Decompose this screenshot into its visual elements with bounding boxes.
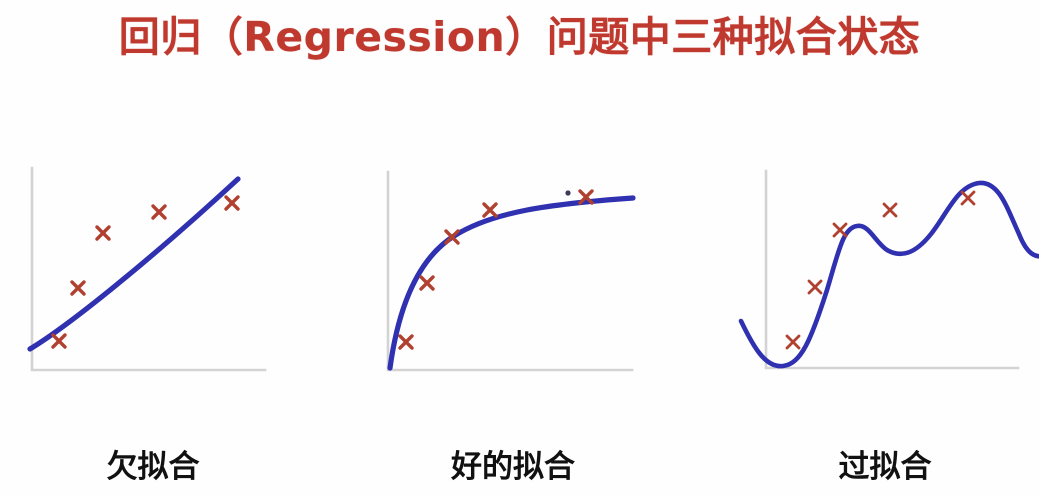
slide-canvas: 回归（Regression）问题中三种拟合状态 [0, 0, 1039, 495]
stray-pixel-artifact [565, 190, 570, 195]
data-point-marker [153, 206, 165, 218]
data-point-marker [884, 204, 896, 216]
goodfit-data-points [400, 191, 592, 348]
data-point-marker [421, 277, 433, 289]
data-point-marker [484, 204, 496, 216]
caption-overfit: 过拟合 [735, 443, 1035, 491]
data-point-marker [787, 336, 799, 348]
overfit-chart-svg [735, 150, 1035, 400]
caption-goodfit: 好的拟合 [368, 443, 658, 491]
title-bar: 回归（Regression）问题中三种拟合状态 [0, 6, 1039, 68]
overfit-axes [766, 171, 1018, 368]
data-point-marker [97, 227, 109, 239]
page-title: 回归（Regression）问题中三种拟合状态 [119, 6, 920, 68]
underfit-fit-line [30, 179, 238, 349]
data-point-marker [834, 224, 846, 236]
goodfit-chart-svg [368, 150, 658, 400]
data-point-marker [962, 192, 974, 204]
data-point-marker [72, 282, 84, 294]
chart-panel-overfit [735, 150, 1035, 400]
caption-underfit: 欠拟合 [8, 443, 298, 491]
data-point-marker [226, 197, 238, 209]
data-point-marker [400, 336, 412, 348]
underfit-chart-svg [8, 150, 298, 400]
data-point-marker [809, 281, 821, 293]
data-point-marker [53, 335, 65, 347]
underfit-data-points [53, 197, 238, 347]
chart-panel-underfit [8, 150, 298, 400]
chart-panel-goodfit [368, 150, 658, 400]
underfit-axes [32, 168, 265, 370]
